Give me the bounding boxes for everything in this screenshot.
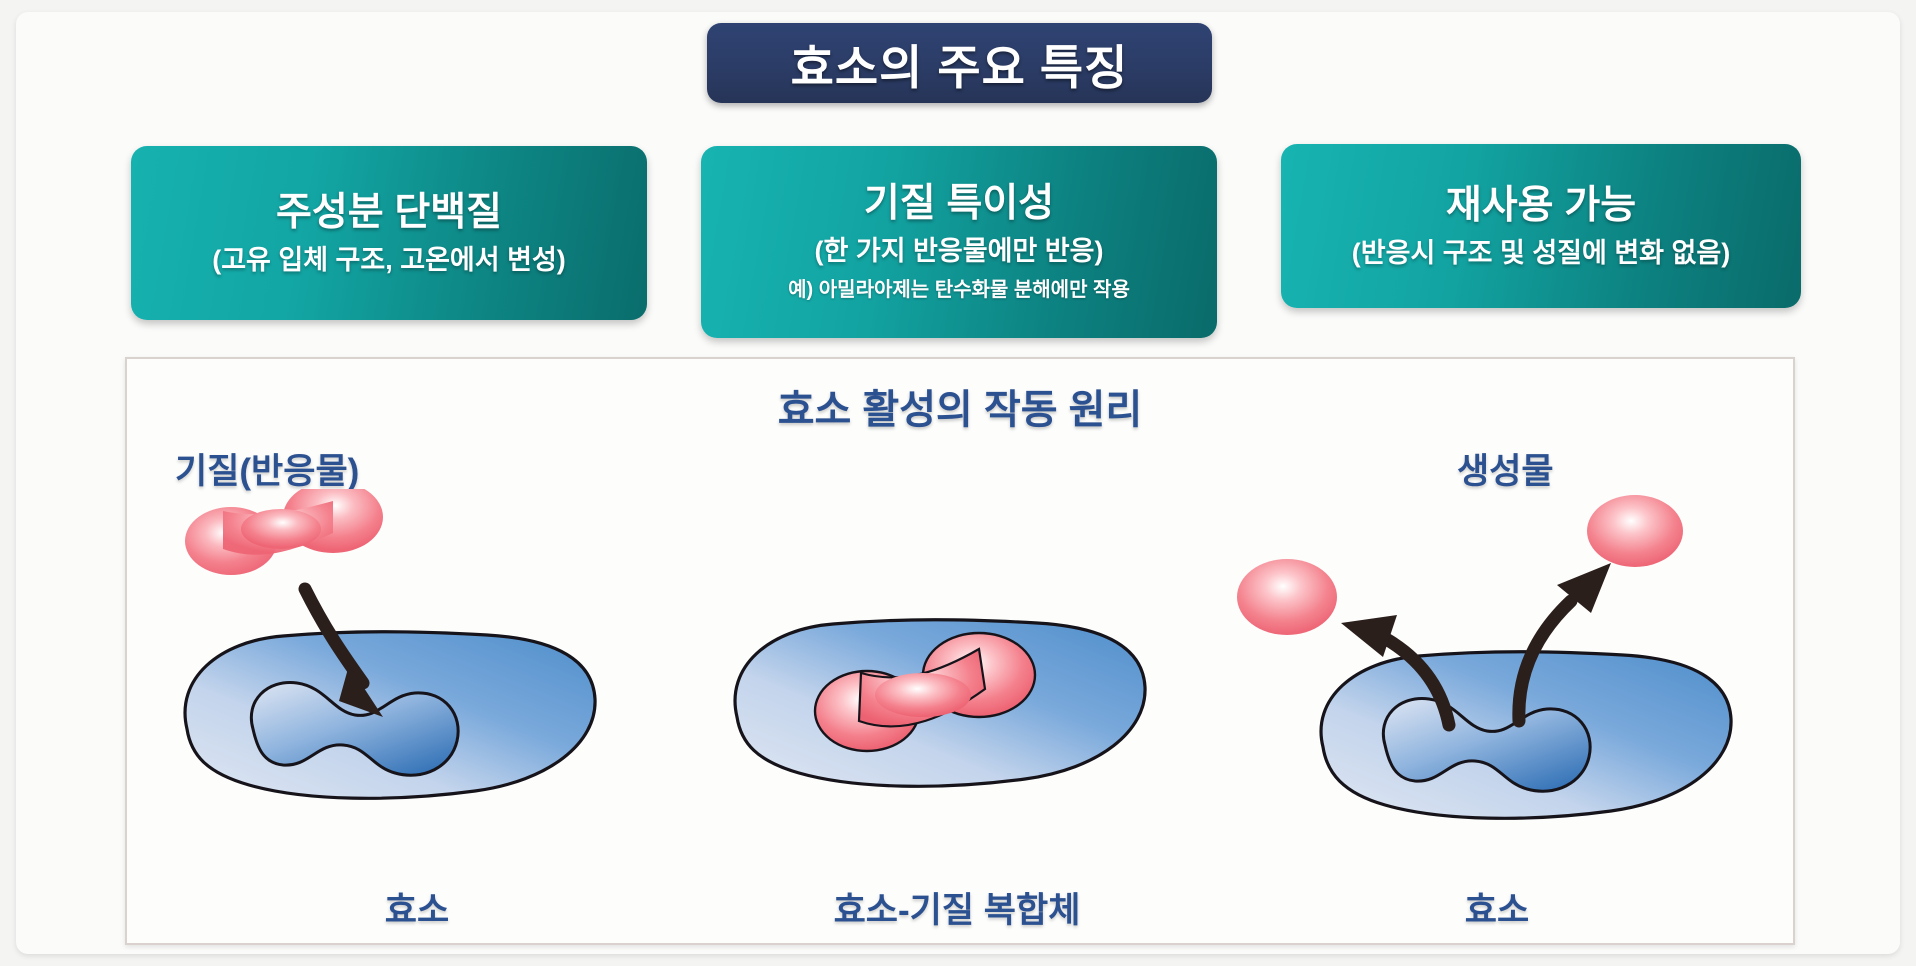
stage-enzyme-caption: 효소 <box>157 882 677 933</box>
feature-card-subtitle: (반응시 구조 및 성질에 변화 없음) <box>1352 239 1730 269</box>
page-title-banner: 효소의 주요 특징 <box>707 23 1212 103</box>
stage-enzyme-substrate-complex: 효소-기질 복합체 <box>697 419 1217 939</box>
page-title: 효소의 주요 특징 <box>791 29 1129 98</box>
slide-root: 효소의 주요 특징 주성분 단백질 (고유 입체 구조, 고온에서 변성) 기질… <box>0 0 1916 966</box>
feature-card-protein-composition[interactable]: 주성분 단백질 (고유 입체 구조, 고온에서 변성) <box>131 146 647 320</box>
product-blob-right <box>1587 495 1683 567</box>
feature-card-subtitle: (고유 입체 구조, 고온에서 변성) <box>212 246 566 276</box>
stage-substrate-binding: 기질(반응물) <box>157 419 677 939</box>
enzyme-substrate-binding-illustration <box>157 489 677 849</box>
feature-card-note: 예) 아밀라아제는 탄수화물 분해에만 작용 <box>788 273 1130 302</box>
stage-enzyme-caption: 효소 <box>1227 882 1767 933</box>
feature-card-reusability[interactable]: 재사용 가능 (반응시 구조 및 성질에 변화 없음) <box>1281 144 1801 308</box>
product-release-illustration <box>1227 489 1767 849</box>
enzyme-substrate-complex-illustration <box>697 489 1217 849</box>
feature-card-title: 주성분 단백질 <box>276 191 502 236</box>
feature-card-substrate-specificity[interactable]: 기질 특이성 (한 가지 반응물에만 반응) 예) 아밀라아제는 탄수화물 분해… <box>701 146 1217 338</box>
mechanism-panel: 효소 활성의 작동 원리 기질(반응물) <box>125 357 1795 945</box>
stage-complex-caption: 효소-기질 복합체 <box>697 882 1217 933</box>
stage-product-release: 생성물 <box>1227 419 1767 939</box>
feature-card-subtitle: (한 가지 반응물에만 반응) <box>815 237 1104 267</box>
feature-card-title: 기질 특이성 <box>864 182 1054 227</box>
stage-substrate-label: 기질(반응물) <box>175 443 359 494</box>
feature-card-title: 재사용 가능 <box>1446 184 1636 229</box>
product-blob-left <box>1237 559 1337 635</box>
stage-product-label: 생성물 <box>1457 443 1554 494</box>
